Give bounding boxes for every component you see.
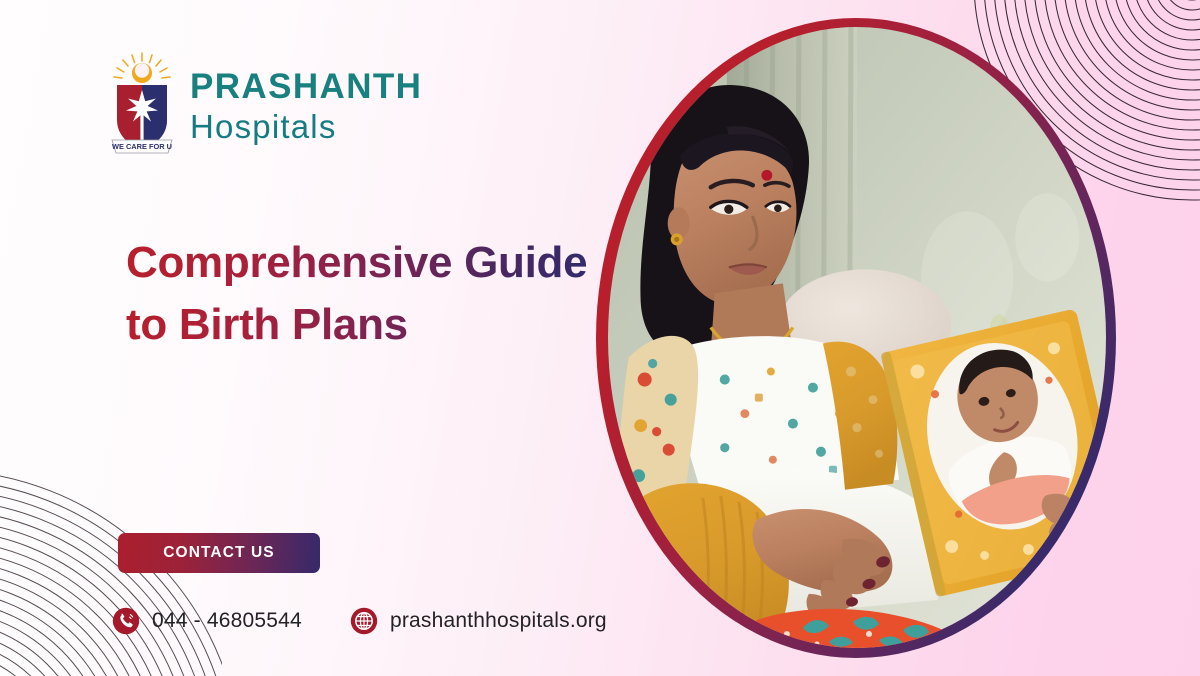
- page-title: Comprehensive Guide to Birth Plans: [126, 232, 596, 357]
- brand-logo[interactable]: WE CARE FOR U PRASHANTH Hospitals: [108, 52, 422, 160]
- contact-phone[interactable]: 044 - 46805544: [112, 607, 302, 635]
- hero-illustration: [608, 27, 1106, 648]
- contact-info-row: 044 - 46805544 prashanthhospitals.org: [112, 607, 607, 635]
- crest-motto-text: WE CARE FOR U: [112, 142, 172, 151]
- phone-icon: [112, 607, 140, 635]
- hero-image-container: [596, 18, 1116, 658]
- promo-banner: WE CARE FOR U PRASHANTH Hospitals Compre…: [0, 0, 1200, 676]
- contact-us-button[interactable]: CONTACT US: [118, 533, 320, 573]
- globe-icon: [350, 607, 378, 635]
- phone-number: 044 - 46805544: [152, 609, 302, 633]
- website-url: prashanthhospitals.org: [390, 609, 607, 633]
- shield-crest-icon: WE CARE FOR U: [108, 52, 176, 160]
- hero-photo: [608, 27, 1106, 648]
- brand-name-top: PRASHANTH: [190, 69, 422, 104]
- brand-name-bottom: Hospitals: [190, 110, 422, 143]
- brand-wordmark: PRASHANTH Hospitals: [190, 69, 422, 143]
- contact-website[interactable]: prashanthhospitals.org: [350, 607, 607, 635]
